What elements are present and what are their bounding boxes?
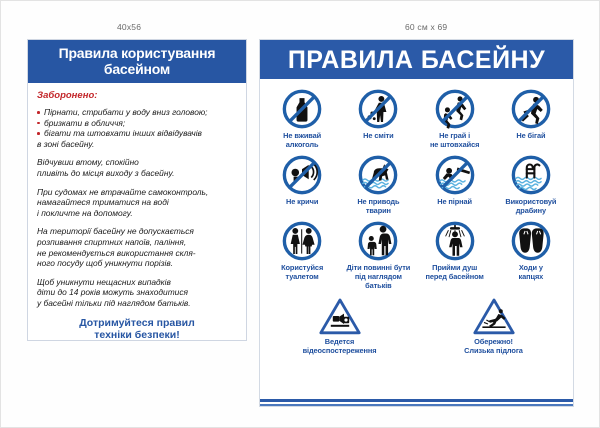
forbidden-heading: Заборонено: — [37, 90, 237, 101]
warning-row: Ведется відеоспостереження Обережно — [264, 296, 569, 355]
no-diving-icon — [434, 154, 476, 196]
no-play-push-icon — [434, 88, 476, 130]
pictogram-cell-take-shower: Прийми душ перед басейном — [417, 217, 493, 292]
warning-caption: Обережно! Слизька підлога — [464, 338, 523, 355]
use-ladder-icon — [510, 154, 552, 196]
pictogram-row: Не кричи — [264, 151, 569, 217]
warning-caption: Ведется відеоспостереження — [303, 338, 377, 355]
pictogram-caption: Користуйся туалетом — [281, 264, 323, 281]
left-poster-body: Заборонено: Пірнати, стрибати у воду вни… — [28, 83, 246, 352]
pool-rules-poster: ПРАВИЛА БАСЕЙНУ Не вживай алкоголь — [259, 39, 574, 407]
rule-paragraph-4: Щоб уникнути нещасних випадків діти до 1… — [37, 277, 237, 309]
list-item: бризкати в обличчя; — [37, 118, 237, 129]
no-animals-icon — [357, 154, 399, 196]
left-poster-title: Правила користування басейном — [28, 40, 246, 83]
pictogram-row: Не вживай алкоголь Не — [264, 85, 569, 151]
pictogram-cell-no-alcohol: Не вживай алкоголь — [264, 85, 340, 151]
pictogram-cell-use-toilet: Користуйся туалетом — [264, 217, 340, 292]
no-shouting-icon — [281, 154, 323, 196]
rule-paragraph-2: При судомах не втрачайте самоконтроль, н… — [37, 187, 237, 219]
pictogram-cell-no-running: Не бігай — [493, 85, 569, 151]
pictogram-cell-no-litter: Не сміти — [340, 85, 416, 151]
pictogram-caption: Використовуй драбину — [505, 198, 556, 215]
pictogram-cell-no-shouting: Не кричи — [264, 151, 340, 217]
no-litter-icon — [357, 88, 399, 130]
no-running-icon — [510, 88, 552, 130]
children-supervision-icon — [357, 220, 399, 262]
pictogram-caption: Ходи у капцях — [519, 264, 544, 281]
slippery-floor-warning-icon — [472, 296, 516, 336]
wear-slippers-icon — [510, 220, 552, 262]
pictogram-caption: Не кричи — [286, 198, 318, 207]
pictogram-caption: Не вживай алкоголь — [283, 132, 321, 149]
warning-cell-cctv: Ведется відеоспостереження — [284, 296, 396, 355]
pool-usage-rules-poster: Правила користування басейном Заборонено… — [27, 39, 247, 341]
pictogram-caption: Не бігай — [516, 132, 545, 141]
pictogram-caption: Не грай і не штовхайся — [430, 132, 479, 149]
pictogram-caption: Не пірнай — [437, 198, 472, 207]
right-poster-size-label: 60 см x 69 — [405, 22, 447, 32]
take-shower-icon — [434, 220, 476, 262]
right-poster-title: ПРАВИЛА БАСЕЙНУ — [288, 47, 545, 73]
list-item-continuation: в зоні басейну. — [37, 139, 237, 150]
pictogram-cell-no-play-push: Не грай і не штовхайся — [417, 85, 493, 151]
warning-cell-slippery-floor: Обережно! Слизька підлога — [438, 296, 550, 355]
catalog-page: 40x56 60 см x 69 Правила користування ба… — [0, 0, 600, 428]
pictogram-cell-use-ladder: Використовуй драбину — [493, 151, 569, 217]
pictogram-cell-no-animals: Не приводь тварин — [340, 151, 416, 217]
pictogram-cell-children-supervision: Діти повинні бути під наглядом батьків — [340, 217, 416, 292]
left-poster-footer: Дотримуйтеся правил техніки безпеки! — [37, 317, 237, 348]
pictogram-grid: Не вживай алкоголь Не — [260, 79, 573, 399]
cctv-warning-icon — [318, 296, 362, 336]
forbidden-list: Пірнати, стрибати у воду вниз головою; б… — [37, 107, 237, 149]
pictogram-caption: Діти повинні бути під наглядом батьків — [346, 264, 410, 290]
list-item: бігати та штовхати інших відвідувачів — [37, 128, 237, 139]
list-item: Пірнати, стрибати у воду вниз головою; — [37, 107, 237, 118]
rule-paragraph-3: На території басейну не допускається роз… — [37, 226, 237, 268]
no-alcohol-icon — [281, 88, 323, 130]
pictogram-caption: Не сміти — [363, 132, 394, 141]
pictogram-caption: Не приводь тварин — [357, 198, 399, 215]
rule-paragraph-1: Відчувши втому, спокійно пливіть до місц… — [37, 157, 237, 178]
right-poster-bottom-bars — [260, 399, 573, 406]
pictogram-cell-no-diving: Не пірнай — [417, 151, 493, 217]
pictogram-row: Користуйся туалетом Діти повинні бути пі… — [264, 217, 569, 292]
left-poster-size-label: 40x56 — [117, 22, 141, 32]
right-poster-header: ПРАВИЛА БАСЕЙНУ — [260, 40, 573, 79]
right-poster-bottom-bar-2 — [260, 404, 573, 407]
use-toilet-icon — [281, 220, 323, 262]
pictogram-caption: Прийми душ перед басейном — [425, 264, 483, 281]
pictogram-cell-wear-slippers: Ходи у капцях — [493, 217, 569, 292]
